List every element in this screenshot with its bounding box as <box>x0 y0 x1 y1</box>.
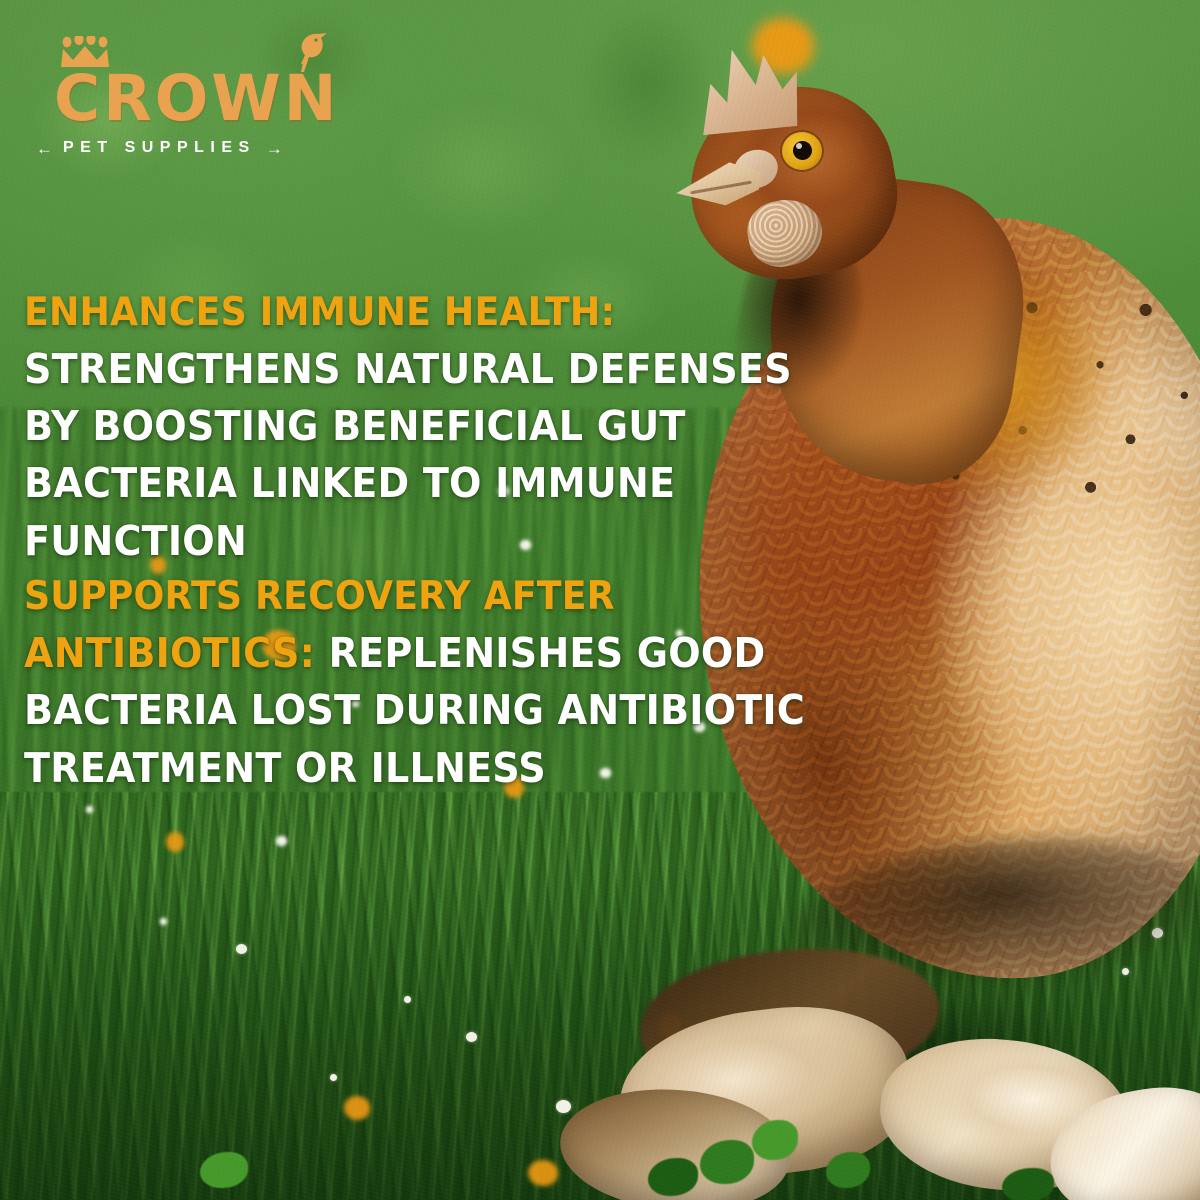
arrow-left-icon: ← <box>36 140 53 157</box>
benefit-heading-2-rest: REPLENISHES GOOD <box>315 629 765 677</box>
white-flower-icon <box>86 806 93 813</box>
white-flower-icon <box>160 918 167 925</box>
white-flower-icon <box>404 996 411 1003</box>
logo-tagline: PET SUPPLIES <box>63 139 256 157</box>
arrow-right-icon: → <box>266 140 283 157</box>
benefit-body-line: BACTERIA LOST DURING ANTIBIOTIC <box>24 682 731 739</box>
buttercup-icon <box>528 1160 558 1186</box>
benefit-body-line: BY BOOSTING BENEFICIAL GUT <box>24 398 731 455</box>
benefit-heading-2-line-1: SUPPORTS RECOVERY AFTER <box>24 570 731 625</box>
buttercup-icon <box>166 832 184 852</box>
promo-poster: CROWN ← PET SUPPLIES → ENHANCES IMMUNE H… <box>0 0 1200 1200</box>
white-flower-icon <box>276 836 287 846</box>
brand-logo[interactable]: CROWN ← PET SUPPLIES → <box>36 58 346 157</box>
benefit-heading-2-line-2: ANTIBIOTICS: REPLENISHES GOOD <box>24 625 731 682</box>
clover-leaf-icon <box>1002 1168 1054 1200</box>
benefit-body-line: FUNCTION <box>24 513 731 570</box>
benefit-heading-2-label: ANTIBIOTICS: <box>24 629 315 677</box>
benefit-body-line: STRENGTHENS NATURAL DEFENSES <box>24 341 731 398</box>
white-flower-icon <box>330 1074 337 1081</box>
bird-icon <box>288 30 328 74</box>
benefit-body-line: TREATMENT OR ILLNESS <box>24 740 731 797</box>
benefit-heading-1: ENHANCES IMMUNE HEALTH: <box>24 286 731 341</box>
white-flower-icon <box>556 1100 571 1113</box>
logo-wordmark-row: CROWN <box>36 58 346 130</box>
benefits-copy: ENHANCES IMMUNE HEALTH: STRENGTHENS NATU… <box>24 286 784 797</box>
hen-eye-glint <box>796 143 802 149</box>
logo-brand-name: CROWN <box>36 67 340 130</box>
white-flower-icon <box>236 944 247 954</box>
white-flower-icon <box>466 1032 477 1042</box>
logo-tagline-row: ← PET SUPPLIES → <box>36 139 346 157</box>
crown-icon <box>58 36 120 70</box>
buttercup-icon <box>344 1096 370 1120</box>
benefit-body-line: BACTERIA LINKED TO IMMUNE <box>24 455 731 512</box>
